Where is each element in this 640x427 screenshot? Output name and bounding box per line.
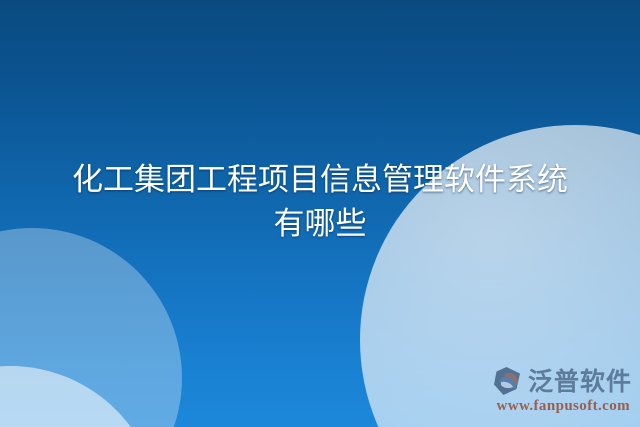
decorative-circle-left-mid	[0, 228, 182, 427]
fanpu-logo-icon	[492, 366, 524, 396]
promo-banner: 化工集团工程项目信息管理软件系统 有哪些 泛普软件 www.fanpusoft.…	[0, 0, 640, 427]
decorative-circle-left-light	[0, 366, 160, 427]
watermark: 泛普软件 www.fanpusoft.com	[492, 366, 632, 415]
watermark-brand-text: 泛普软件	[528, 368, 632, 395]
banner-title: 化工集团工程项目信息管理软件系统 有哪些	[0, 158, 640, 246]
banner-title-line-1: 化工集团工程项目信息管理软件系统	[0, 158, 640, 202]
watermark-url-text: www.fanpusoft.com	[497, 397, 630, 415]
watermark-brand-row: 泛普软件	[492, 366, 632, 396]
banner-title-line-2: 有哪些	[0, 202, 640, 246]
